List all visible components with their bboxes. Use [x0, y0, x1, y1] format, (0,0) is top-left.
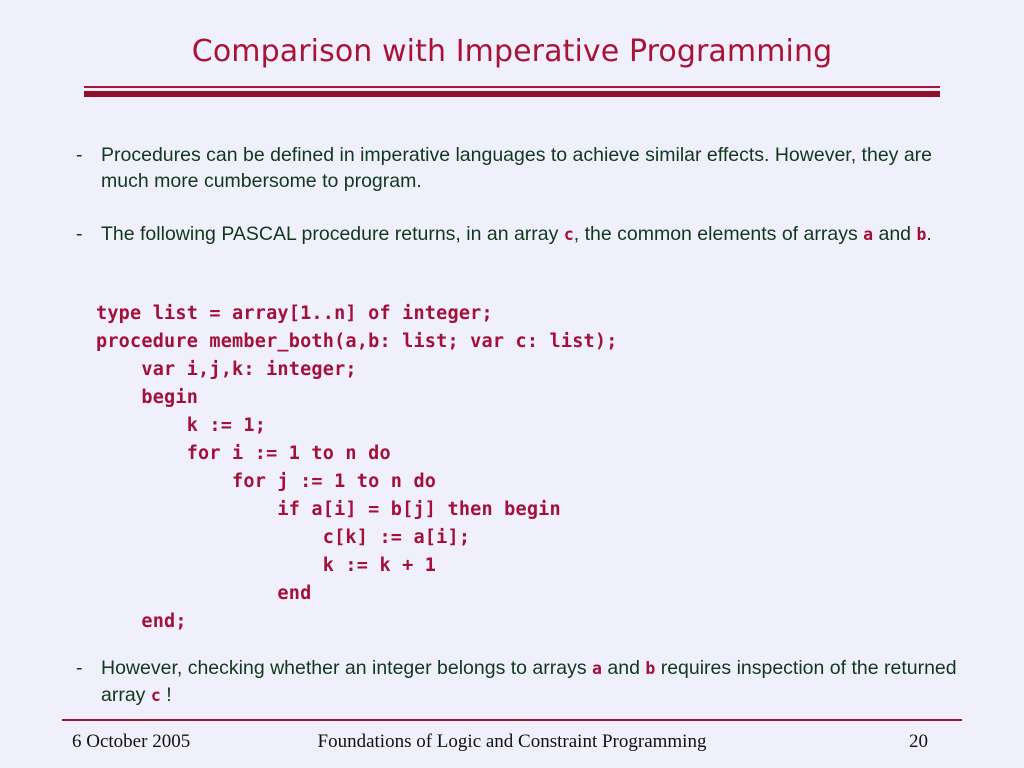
footer-rule	[62, 719, 962, 721]
page-title: Comparison with Imperative Programming	[0, 32, 1024, 72]
bullet-text: Procedures can be defined in imperative …	[101, 142, 936, 194]
title-rule-thick	[84, 91, 940, 97]
bullet-marker: -	[76, 221, 96, 247]
code-variable: b	[645, 659, 655, 678]
code-variable: a	[863, 225, 873, 244]
code-line: end	[96, 580, 618, 608]
title-block: Comparison with Imperative Programming	[0, 32, 1024, 72]
code-line: if a[i] = b[j] then begin	[96, 496, 618, 524]
footer-course-title: Foundations of Logic and Constraint Prog…	[0, 731, 1024, 753]
footer-page-number: 20	[909, 731, 928, 753]
code-line: k := 1;	[96, 412, 618, 440]
code-line: k := k + 1	[96, 552, 618, 580]
code-line: procedure member_both(a,b: list; var c: …	[96, 328, 618, 356]
bullet-item: - However, checking whether an integer b…	[76, 655, 986, 709]
bullet-text: However, checking whether an integer bel…	[101, 655, 986, 709]
bullet-text: The following PASCAL procedure returns, …	[101, 221, 946, 248]
slide: Comparison with Imperative Programming -…	[0, 0, 1024, 768]
code-variable: c	[151, 686, 161, 705]
bullet-item: - Procedures can be defined in imperativ…	[76, 142, 936, 194]
code-line: for j := 1 to n do	[96, 468, 618, 496]
code-variable: c	[564, 225, 574, 244]
bullet-item: - The following PASCAL procedure returns…	[76, 221, 946, 248]
pascal-code-block: type list = array[1..n] of integer;proce…	[96, 300, 618, 636]
code-line: var i,j,k: integer;	[96, 356, 618, 384]
code-line: c[k] := a[i];	[96, 524, 618, 552]
code-variable: b	[916, 225, 926, 244]
code-variable: a	[592, 659, 602, 678]
code-line: end;	[96, 608, 618, 636]
code-line: begin	[96, 384, 618, 412]
bullet-marker: -	[76, 655, 96, 681]
code-line: type list = array[1..n] of integer;	[96, 300, 618, 328]
code-line: for i := 1 to n do	[96, 440, 618, 468]
bullet-marker: -	[76, 142, 96, 168]
slide-footer: 6 October 2005 Foundations of Logic and …	[0, 731, 1024, 757]
